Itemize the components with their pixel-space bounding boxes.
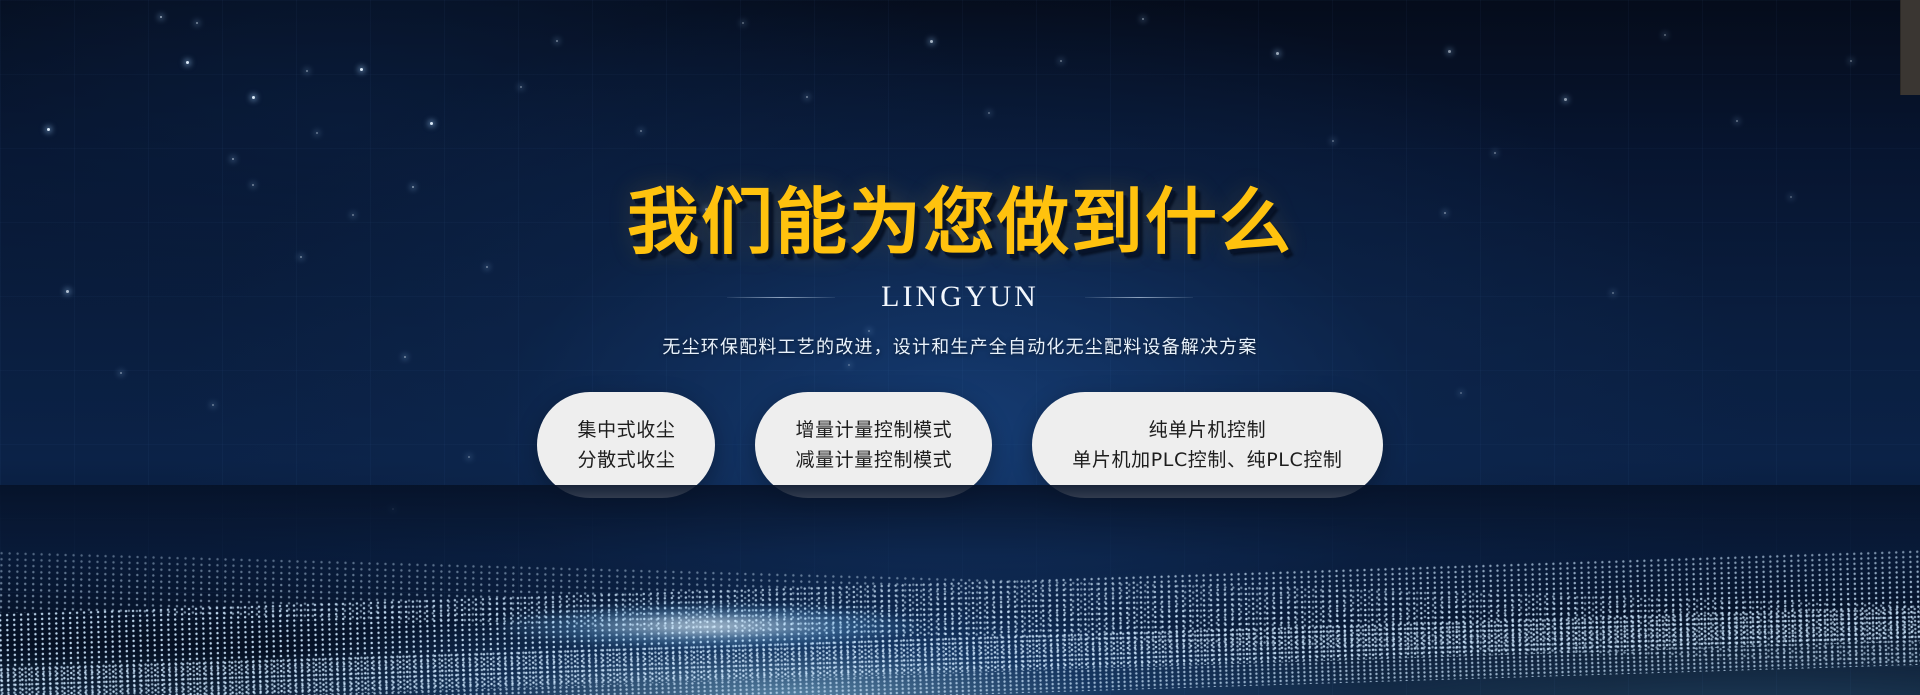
hero-banner: 我们能为您做到什么 LINGYUN 无尘环保配料工艺的改进，设计和生产全自动化无…	[0, 0, 1920, 695]
scrollbar-thumb[interactable]	[1900, 0, 1920, 95]
pill-line: 集中式收尘	[577, 420, 675, 441]
feature-pill-dust-collection[interactable]: 集中式收尘 分散式收尘	[537, 392, 715, 498]
subtitle-row: LINGYUN	[727, 280, 1193, 314]
banner-description: 无尘环保配料工艺的改进，设计和生产全自动化无尘配料设备解决方案	[662, 333, 1257, 359]
feature-pill-group: 集中式收尘 分散式收尘 增量计量控制模式 减量计量控制模式 纯单片机控制 单片机…	[537, 392, 1382, 498]
pill-line: 纯单片机控制	[1149, 420, 1267, 441]
pill-line: 分散式收尘	[577, 450, 675, 471]
pill-line: 减量计量控制模式	[795, 450, 952, 471]
divider-line-right	[1085, 297, 1193, 298]
pill-line: 单片机加PLC控制、纯PLC控制	[1072, 450, 1342, 471]
feature-pill-control-system[interactable]: 纯单片机控制 单片机加PLC控制、纯PLC控制	[1032, 392, 1382, 498]
banner-content: 我们能为您做到什么 LINGYUN 无尘环保配料工艺的改进，设计和生产全自动化无…	[0, 0, 1920, 695]
page-title: 我们能为您做到什么	[627, 186, 1293, 258]
divider-line-left	[727, 297, 835, 298]
brand-subtitle: LINGYUN	[881, 280, 1039, 314]
pill-line: 增量计量控制模式	[795, 420, 952, 441]
feature-pill-metering-mode[interactable]: 增量计量控制模式 减量计量控制模式	[755, 392, 992, 498]
